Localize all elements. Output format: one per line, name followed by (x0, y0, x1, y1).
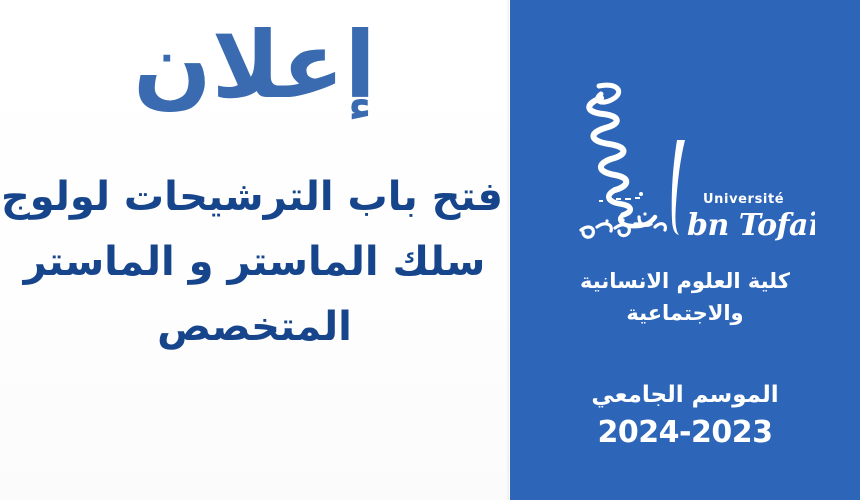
faculty-line-2: والاجتماعية (520, 298, 850, 330)
logo-ibn-tofail-text: bn Tofaïl (687, 208, 815, 243)
announcement-poster: إعلان فتح باب الترشيحات لولوج سلك الماست… (0, 0, 860, 500)
subtitle-line-3: المتخصص (6, 295, 503, 360)
academic-season-year: 2024-2023 (520, 413, 850, 452)
logo-universite-text: Université (703, 192, 784, 207)
left-content-panel: إعلان فتح باب الترشيحات لولوج سلك الماست… (0, 0, 509, 500)
faculty-line-1: كلية العلوم الانسانية (520, 266, 850, 298)
academic-season: الموسم الجامعي 2024-2023 (520, 378, 850, 452)
subtitle-line-2: سلك الماستر و الماستر (6, 230, 503, 295)
right-branding-panel: Université bn Tofaïl كلية العلوم الانسان… (510, 0, 860, 500)
academic-season-label: الموسم الجامعي (520, 378, 850, 413)
subtitle-line-1: فتح باب الترشيحات لولوج (6, 165, 503, 230)
page-title: إعلان (0, 18, 509, 115)
university-logo: Université bn Tofaïl (510, 78, 860, 258)
announcement-subtitle: فتح باب الترشيحات لولوج سلك الماستر و ال… (6, 165, 503, 359)
faculty-name: كلية العلوم الانسانية والاجتماعية (520, 266, 850, 330)
